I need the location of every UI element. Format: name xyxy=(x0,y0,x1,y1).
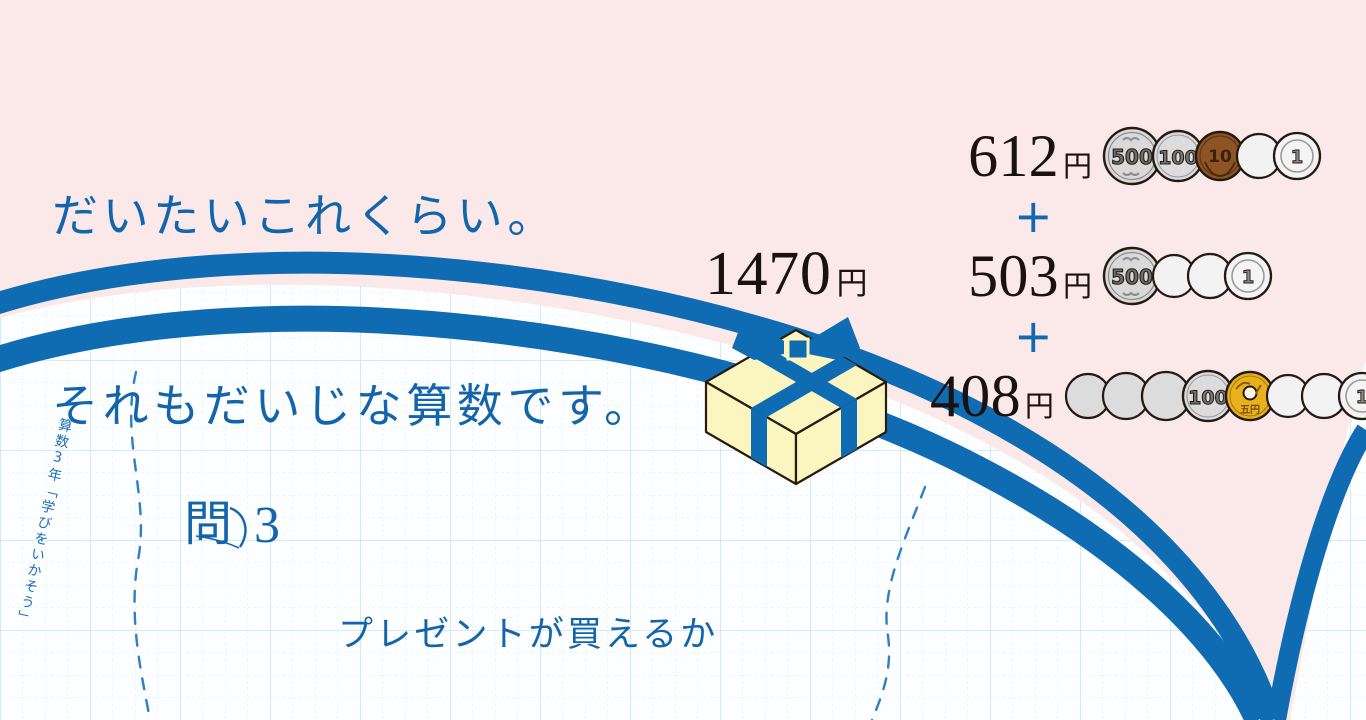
coin-1-icon: 1 xyxy=(1222,250,1274,302)
coin-group-503: 500 xyxy=(1101,245,1274,307)
question-label: 問 xyxy=(184,496,232,552)
price-amount-503: 503円 xyxy=(930,246,1092,306)
svg-text:100: 100 xyxy=(1188,387,1228,409)
price-value: 503 xyxy=(968,243,1059,309)
price-value: 612 xyxy=(968,123,1059,189)
price-amount-612: 612円 xyxy=(930,126,1092,186)
coin-group-408: 100 五円 xyxy=(1063,365,1366,427)
question-number: 3 xyxy=(254,497,280,554)
gift-box-icon xyxy=(692,308,908,492)
svg-text:五円: 五円 xyxy=(1240,404,1260,416)
price-amount-408: 408円 xyxy=(930,366,1054,426)
headline-line-2: それもだいじな算数です。 xyxy=(52,375,655,438)
svg-text:1: 1 xyxy=(1291,147,1304,168)
price-row-503: 503円 500 xyxy=(930,238,1360,314)
coin-group-612: 500 100 xyxy=(1101,125,1323,187)
price-unit: 円 xyxy=(1025,389,1054,423)
coin-1-icon: 1 xyxy=(1336,370,1366,422)
price-stack: 612円 500 100 xyxy=(930,118,1360,434)
operator-row-2: + xyxy=(930,314,1360,358)
svg-text:500: 500 xyxy=(1111,145,1153,169)
svg-text:100: 100 xyxy=(1158,147,1198,169)
total-price: 1470円 xyxy=(705,243,867,305)
poster-canvas: だいたいこれくらい。 それもだいじな算数です。 xyxy=(0,0,1366,720)
svg-text:1: 1 xyxy=(1356,387,1366,408)
question-text: プレゼントが買えるか ひと目でわかる? xyxy=(338,494,718,720)
coin-1-icon: 1 xyxy=(1271,130,1323,182)
question-line-1: プレゼントが買えるか xyxy=(338,607,718,664)
total-price-amount: 1470 xyxy=(705,240,831,308)
price-row-612: 612円 500 100 xyxy=(930,118,1360,194)
svg-text:10: 10 xyxy=(1208,147,1232,167)
svg-text:500: 500 xyxy=(1111,265,1153,289)
price-unit: 円 xyxy=(1063,149,1092,183)
headline-line-1: だいたいこれくらい。 xyxy=(52,185,655,248)
price-unit: 円 xyxy=(1063,269,1092,303)
question-number-mark: 問 3 xyxy=(184,492,314,554)
plus-icon: + xyxy=(1014,318,1053,355)
question-block: 問 3 プレゼントが買えるか ひと目でわかる? xyxy=(184,488,718,720)
total-price-unit: 円 xyxy=(836,266,867,302)
svg-text:1: 1 xyxy=(1242,267,1255,288)
plus-icon: + xyxy=(1014,198,1053,235)
price-value: 408 xyxy=(930,363,1021,429)
price-row-408: 408円 xyxy=(930,358,1360,434)
operator-row-1: + xyxy=(930,194,1360,238)
